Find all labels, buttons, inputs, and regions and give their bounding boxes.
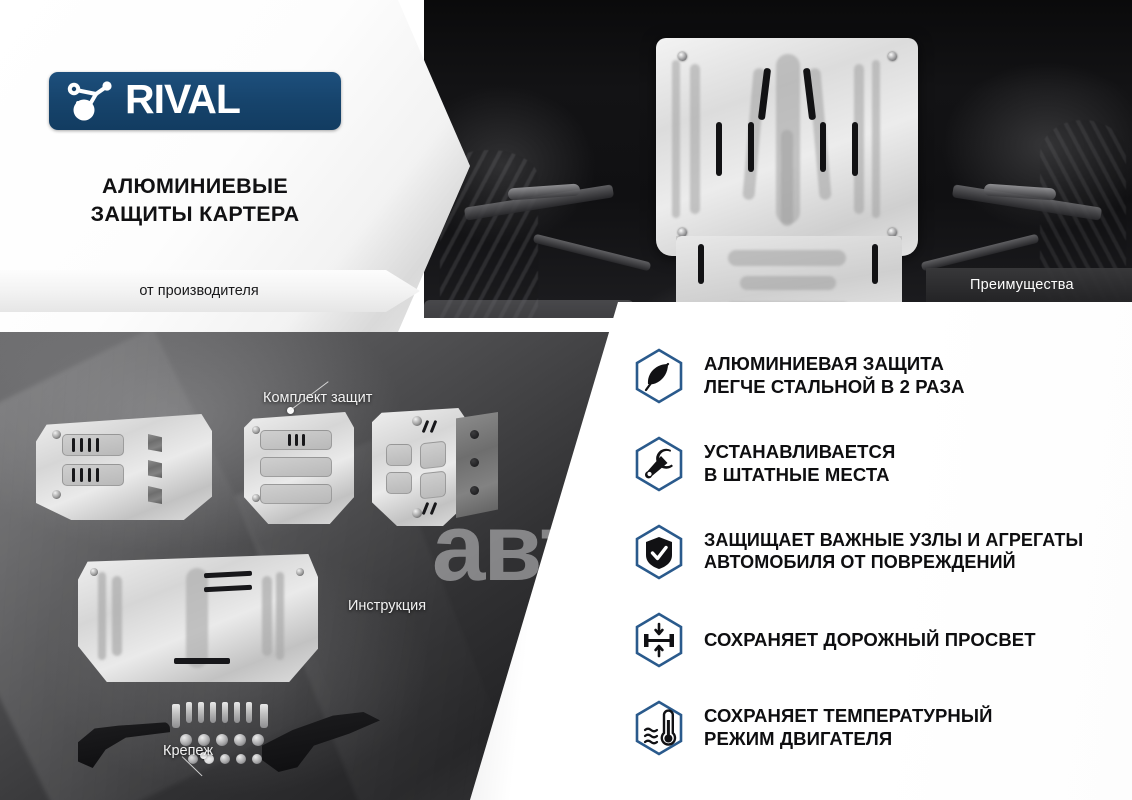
instruction-callout-label: Инструкция (348, 598, 426, 614)
advantage-item-fitment: УСТАНАВЛИВАЕТСЯ В ШТАТНЫЕ МЕСТА (634, 428, 1124, 500)
wrench-icon (634, 436, 684, 492)
molecule-icon (63, 79, 115, 123)
tie-rod-left (533, 234, 652, 272)
hero-content: RIVAL АЛЮМИНИЕВЫЕ ЗАЩИТЫ КАРТЕРА от прои… (0, 0, 390, 332)
advantage-text-weight: АЛЮМИНИЕВАЯ ЗАЩИТА ЛЕГЧЕ СТАЛЬНОЙ В 2 РА… (704, 353, 965, 398)
skid-plate-c (372, 408, 468, 526)
hero-title: АЛЮМИНИЕВЫЕ ЗАЩИТЫ КАРТЕРА (91, 173, 300, 229)
advantages-list: АЛЮМИНИЕВАЯ ЗАЩИТА ЛЕГЧЕ СТАЛЬНОЙ В 2 РА… (634, 340, 1124, 780)
rival-logo: RIVAL (49, 72, 341, 130)
hero-title-line1: АЛЮМИНИЕВЫЕ (91, 173, 300, 201)
promo-banner: Преимущества (0, 0, 1132, 800)
ground-clearance-icon (634, 612, 684, 668)
advantage-text-protection: ЗАЩИЩАЕТ ВАЖНЫЕ УЗЛЫ И АГРЕГАТЫ АВТОМОБИ… (704, 530, 1083, 574)
advantage-text-clearance: СОХРАНЯЕТ ДОРОЖНЫЙ ПРОСВЕТ (704, 629, 1036, 652)
rival-logo-text: RIVAL (125, 79, 240, 123)
advantages-tab: Преимущества (926, 268, 1132, 302)
tie-rod-right (921, 234, 1040, 272)
hero-subtitle-bar: от производителя (0, 270, 420, 312)
skid-plate-a (36, 414, 212, 520)
skid-plate-b (244, 412, 354, 524)
advantages-tab-label: Преимущества (970, 277, 1074, 293)
advantage-item-temperature: СОХРАНЯЕТ ТЕМПЕРАТУРНЫЙ РЕЖИМ ДВИГАТЕЛЯ (634, 692, 1124, 764)
hero-subtitle: от производителя (139, 283, 280, 299)
kit-callout-label: Комплект защит (263, 390, 372, 406)
skid-plate-main (78, 554, 318, 682)
advantage-item-clearance: СОХРАНЯЕТ ДОРОЖНЫЙ ПРОСВЕТ (634, 604, 1124, 676)
advantage-text-temperature: СОХРАНЯЕТ ТЕМПЕРАТУРНЫЙ РЕЖИМ ДВИГАТЕЛЯ (704, 705, 993, 750)
advantage-item-weight: АЛЮМИНИЕВАЯ ЗАЩИТА ЛЕГЧЕ СТАЛЬНОЙ В 2 РА… (634, 340, 1124, 412)
installed-skid-plate-upper (656, 38, 918, 256)
leaf-icon (634, 348, 684, 404)
advantage-item-protection: ЗАЩИЩАЕТ ВАЖНЫЕ УЗЛЫ И АГРЕГАТЫ АВТОМОБИ… (634, 516, 1124, 588)
thermometer-icon (634, 700, 684, 756)
skid-plate-c-side (456, 412, 498, 518)
advantage-text-fitment: УСТАНАВЛИВАЕТСЯ В ШТАТНЫЕ МЕСТА (704, 441, 895, 486)
subframe-left (424, 300, 634, 318)
shield-check-icon (634, 524, 684, 580)
hero-title-line2: ЗАЩИТЫ КАРТЕРА (91, 201, 300, 229)
fasteners-callout-label: Крепеж (163, 743, 213, 759)
